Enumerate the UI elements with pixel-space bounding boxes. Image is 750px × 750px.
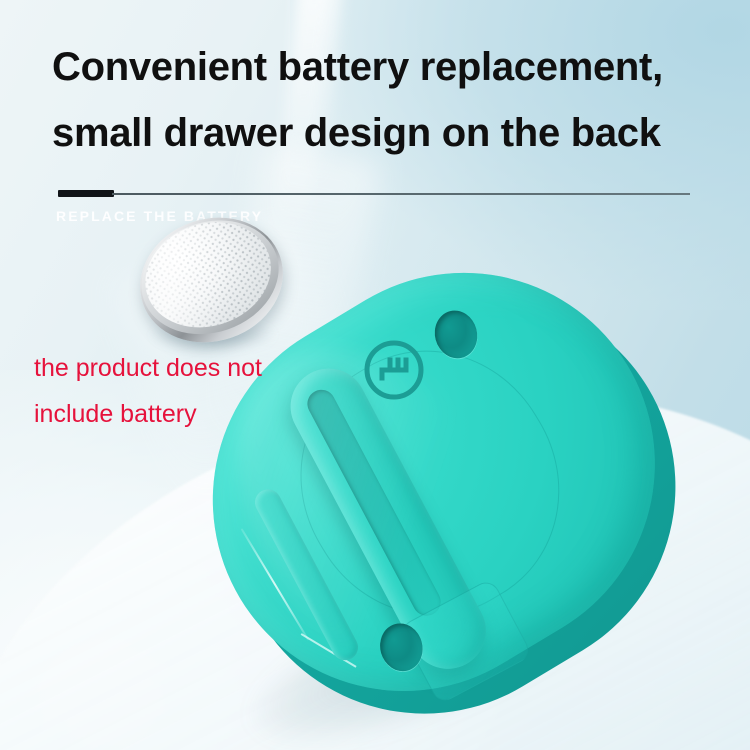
- divider: [58, 190, 690, 197]
- headline-line-1: Convenient battery replacement,: [52, 34, 712, 100]
- divider-thin-rule: [112, 193, 690, 195]
- divider-thick-segment: [58, 190, 114, 197]
- product-marketing-poster: Convenient battery replacement, small dr…: [0, 0, 750, 750]
- warning-line-2: include battery: [34, 391, 364, 437]
- drawer-pull-icon: [362, 338, 426, 402]
- warning-text: the product does not include battery: [34, 345, 364, 437]
- headline-line-2: small drawer design on the back: [52, 100, 712, 166]
- headline: Convenient battery replacement, small dr…: [52, 34, 712, 166]
- warning-line-1: the product does not: [34, 345, 364, 391]
